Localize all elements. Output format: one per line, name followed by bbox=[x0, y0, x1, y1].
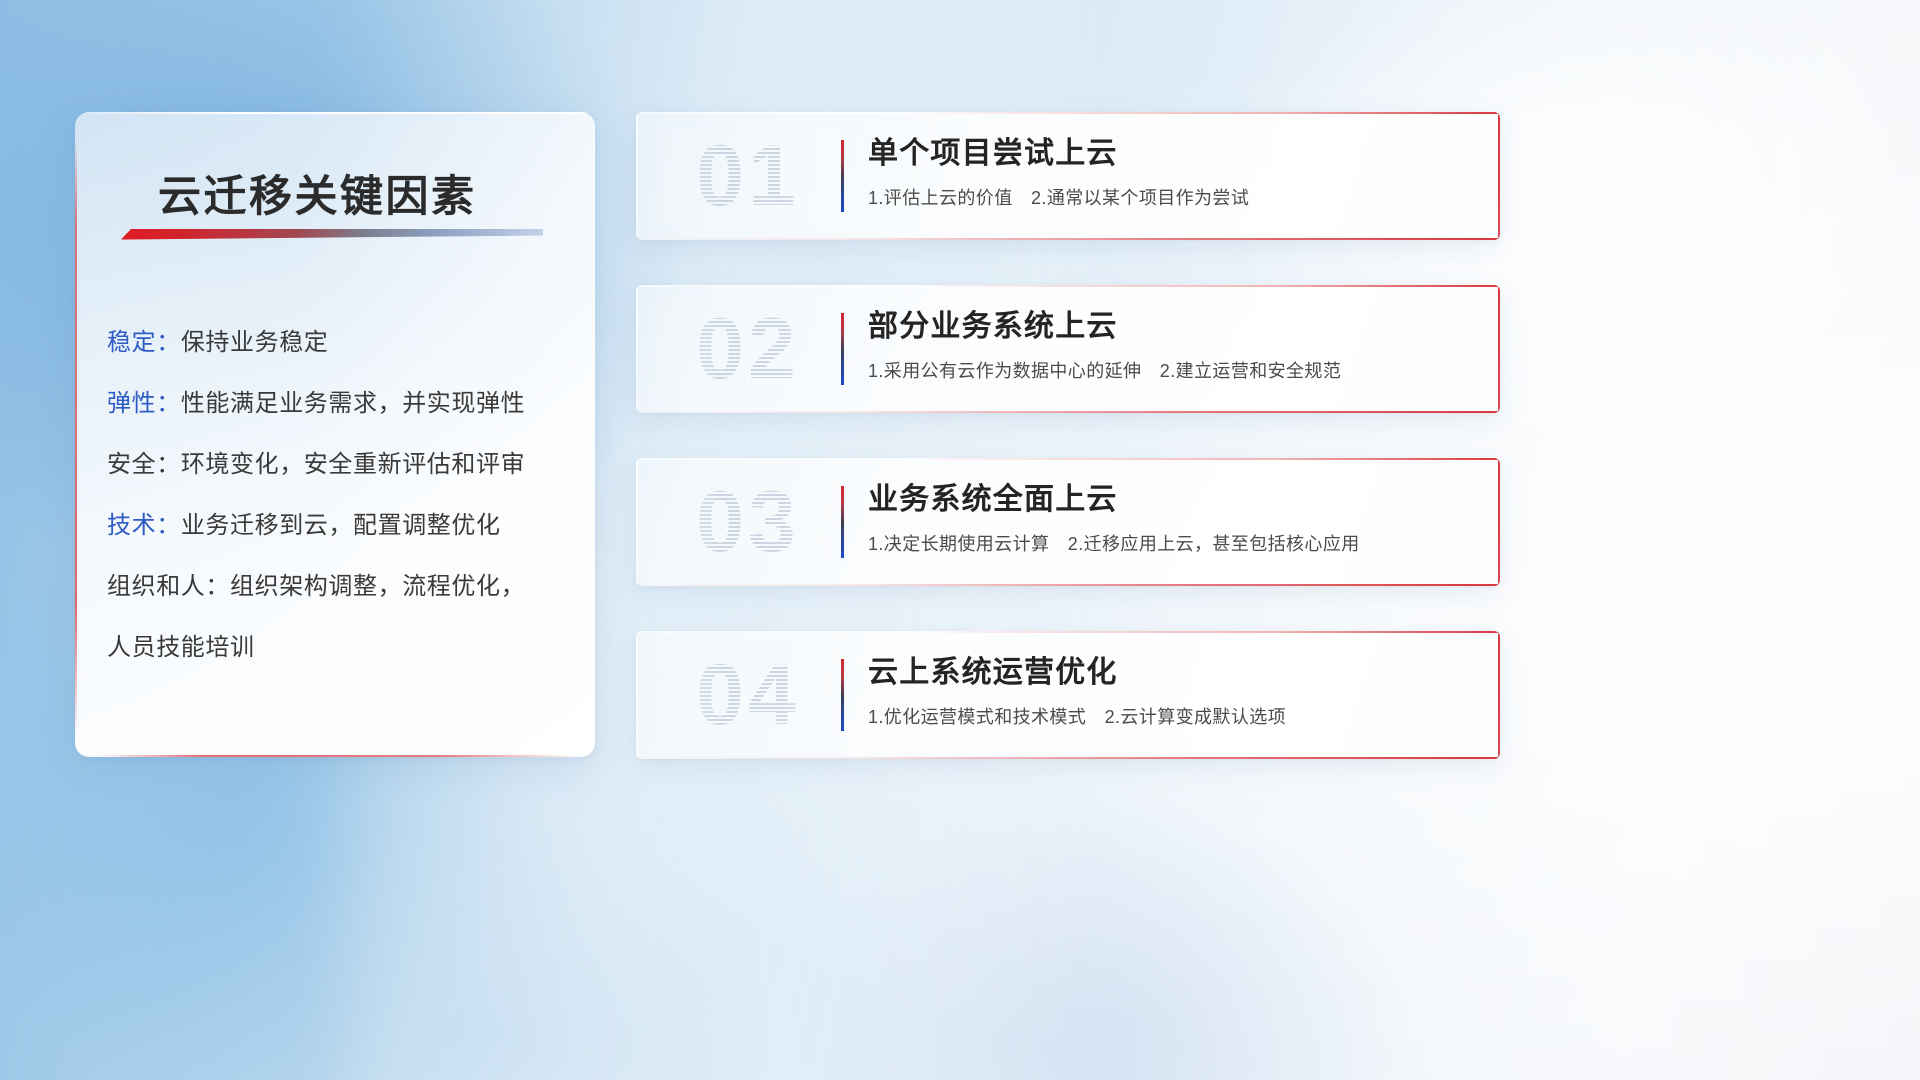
step-divider-bar bbox=[841, 313, 844, 385]
step-description: 1.采用公有云作为数据中心的延伸 2.建立运营和安全规范 bbox=[868, 358, 1474, 384]
step-text-block: 云上系统运营优化1.优化运营模式和技术模式 2.云计算变成默认选项 bbox=[868, 653, 1474, 730]
step-description: 1.评估上云的价值 2.通常以某个项目作为尝试 bbox=[868, 185, 1474, 211]
step-title: 部分业务系统上云 bbox=[868, 307, 1474, 347]
key-factors-list: 稳定：保持业务稳定弹性：性能满足业务需求，并实现弹性安全：环境变化，安全重新评估… bbox=[107, 312, 577, 678]
step-text-block: 部分业务系统上云1.采用公有云作为数据中心的延伸 2.建立运营和安全规范 bbox=[868, 307, 1474, 384]
card-top-edge bbox=[636, 458, 1500, 460]
step-card[interactable]: 04云上系统运营优化1.优化运营模式和技术模式 2.云计算变成默认选项 bbox=[636, 631, 1500, 759]
step-divider-bar bbox=[841, 140, 844, 212]
factor-row: 弹性：性能满足业务需求，并实现弹性 bbox=[107, 373, 577, 434]
factor-value: 环境变化，安全重新评估和评审 bbox=[181, 451, 525, 478]
page-title: 云迁移关键因素 bbox=[158, 162, 477, 224]
step-divider-bar bbox=[841, 659, 844, 731]
card-left-edge bbox=[636, 458, 638, 586]
factor-value: 组织架构调整，流程优化， bbox=[230, 573, 525, 600]
step-number-watermark: 03 bbox=[658, 474, 838, 570]
step-description: 1.优化运营模式和技术模式 2.云计算变成默认选项 bbox=[868, 704, 1474, 730]
card-top-edge bbox=[636, 631, 1500, 633]
factor-row: 技术：业务迁移到云，配置调整优化 bbox=[107, 495, 577, 556]
factor-label: 技术： bbox=[107, 512, 181, 539]
step-number-watermark: 01 bbox=[658, 128, 838, 224]
factor-label: 弹性： bbox=[107, 390, 181, 417]
card-right-accent bbox=[1498, 458, 1500, 586]
factor-value: 业务迁移到云，配置调整优化 bbox=[181, 512, 501, 539]
card-top-edge bbox=[636, 285, 1500, 287]
factor-row: 稳定：保持业务稳定 bbox=[107, 312, 577, 373]
card-right-accent bbox=[1498, 285, 1500, 413]
card-right-accent bbox=[1498, 112, 1500, 240]
slide-stage: 云迁移关键因素 稳定：保持业务稳定弹性：性能满足业务需求，并实现弹性安全：环境变… bbox=[0, 0, 1920, 1080]
card-left-edge bbox=[636, 631, 638, 759]
step-description: 1.决定长期使用云计算 2.迁移应用上云，甚至包括核心应用 bbox=[868, 531, 1474, 557]
card-left-edge bbox=[636, 112, 638, 240]
step-divider-bar bbox=[841, 486, 844, 558]
card-bottom-accent bbox=[636, 238, 1500, 240]
card-right-accent bbox=[1498, 631, 1500, 759]
migration-steps-list: 01单个项目尝试上云1.评估上云的价值 2.通常以某个项目作为尝试02部分业务系… bbox=[636, 112, 1500, 804]
factor-value: 性能满足业务需求，并实现弹性 bbox=[181, 390, 525, 417]
factor-value: 保持业务稳定 bbox=[181, 329, 329, 356]
card-bottom-accent bbox=[636, 411, 1500, 413]
step-title: 业务系统全面上云 bbox=[868, 480, 1474, 520]
step-title: 云上系统运营优化 bbox=[868, 653, 1474, 693]
card-left-edge bbox=[636, 285, 638, 413]
step-title: 单个项目尝试上云 bbox=[868, 134, 1474, 174]
card-bottom-accent bbox=[636, 757, 1500, 759]
card-bottom-accent bbox=[636, 584, 1500, 586]
step-text-block: 业务系统全面上云1.决定长期使用云计算 2.迁移应用上云，甚至包括核心应用 bbox=[868, 480, 1474, 557]
factor-label: 安全： bbox=[107, 451, 181, 478]
factor-row: 组织和人：组织架构调整，流程优化， bbox=[107, 556, 577, 617]
factor-row: 人员技能培训 bbox=[107, 617, 577, 678]
step-card[interactable]: 02部分业务系统上云1.采用公有云作为数据中心的延伸 2.建立运营和安全规范 bbox=[636, 285, 1500, 413]
step-number-watermark: 04 bbox=[658, 647, 838, 743]
panel-left-accent bbox=[75, 138, 77, 737]
panel-right-edge bbox=[594, 122, 596, 721]
factor-label: 组织和人： bbox=[107, 573, 230, 600]
step-card[interactable]: 01单个项目尝试上云1.评估上云的价值 2.通常以某个项目作为尝试 bbox=[636, 112, 1500, 240]
factor-value: 人员技能培训 bbox=[107, 634, 255, 661]
factor-row: 安全：环境变化，安全重新评估和评审 bbox=[107, 434, 577, 495]
panel-bottom-accent bbox=[99, 755, 577, 757]
key-factors-panel: 云迁移关键因素 稳定：保持业务稳定弹性：性能满足业务需求，并实现弹性安全：环境变… bbox=[75, 112, 595, 757]
step-number-watermark: 02 bbox=[658, 301, 838, 397]
title-underline-gradient bbox=[121, 229, 543, 240]
panel-top-edge bbox=[75, 112, 595, 114]
step-card[interactable]: 03业务系统全面上云1.决定长期使用云计算 2.迁移应用上云，甚至包括核心应用 bbox=[636, 458, 1500, 586]
card-top-edge bbox=[636, 112, 1500, 114]
factor-label: 稳定： bbox=[107, 329, 181, 356]
step-text-block: 单个项目尝试上云1.评估上云的价值 2.通常以某个项目作为尝试 bbox=[868, 134, 1474, 211]
